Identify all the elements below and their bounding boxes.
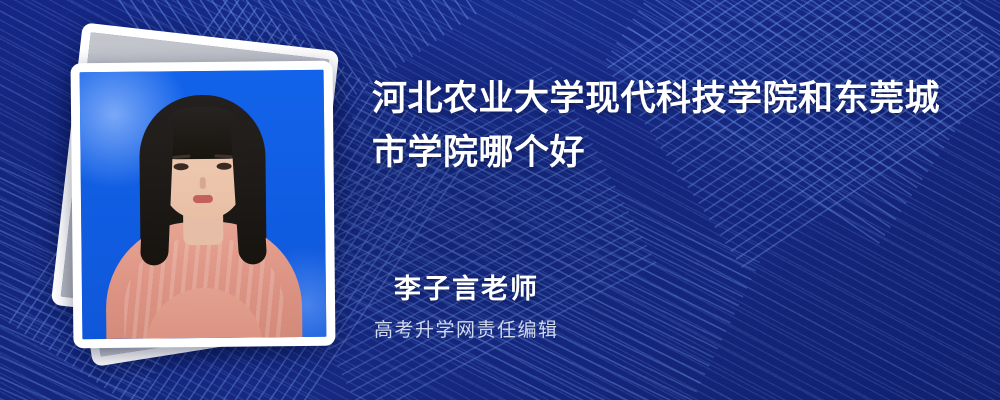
banner-content: 河北农业大学现代科技学院和东莞城市学院哪个好 李子言老师 高考升学网责任编辑 <box>372 0 972 400</box>
author-byline: 李子言老师 高考升学网责任编辑 <box>394 272 559 344</box>
portrait-nose <box>200 177 206 189</box>
portrait-mouth <box>193 195 213 203</box>
author-photo-stack <box>38 34 348 364</box>
author-portrait-photo <box>80 70 327 340</box>
author-photo-frame <box>71 61 336 349</box>
article-cover-banner: 河北农业大学现代科技学院和东莞城市学院哪个好 李子言老师 高考升学网责任编辑 <box>0 0 1000 400</box>
portrait-hair-left <box>140 123 174 266</box>
author-name: 李子言老师 <box>394 272 559 306</box>
banner-title: 河北农业大学现代科技学院和东莞城市学院哪个好 <box>372 72 952 180</box>
author-role: 高考升学网责任编辑 <box>374 318 559 344</box>
